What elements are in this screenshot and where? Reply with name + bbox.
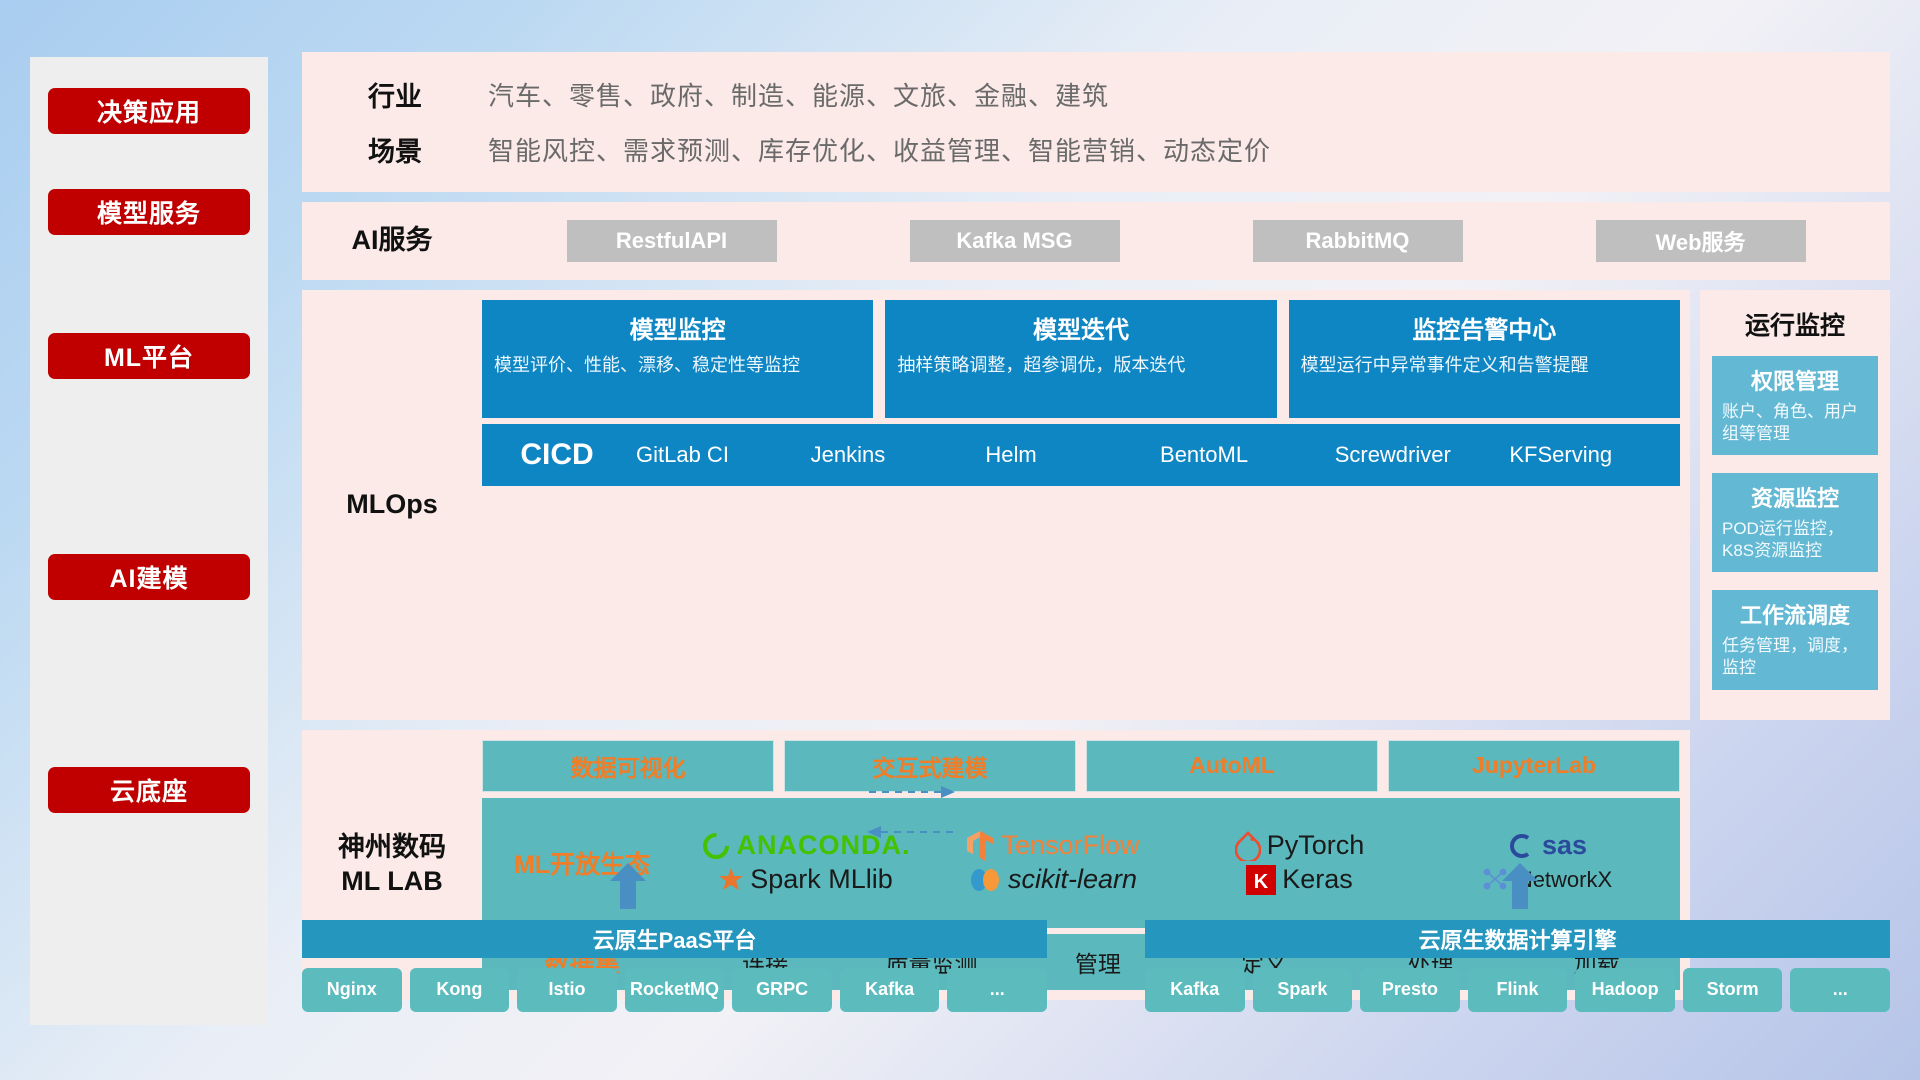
service-chip-kafka-msg[interactable]: Kafka MSG	[910, 220, 1120, 262]
lab-tab-automl[interactable]: AutoML	[1086, 740, 1378, 792]
card-desc: 模型运行中异常事件定义和告警提醒	[1301, 353, 1668, 377]
keras-icon: K	[1246, 865, 1276, 895]
tensorflow-logo: TensorFlow	[965, 829, 1139, 863]
sas-label: sas	[1542, 830, 1587, 861]
main-diagram: 行业 汽车、零售、政府、制造、能源、文旅、金融、建筑 场景 智能风控、需求预测、…	[302, 52, 1890, 1000]
service-chip-rabbitmq[interactable]: RabbitMQ	[1253, 220, 1463, 262]
cicd-item-label: KFServing	[1509, 442, 1612, 467]
cicd-item-kfserving[interactable]: KFServing	[1505, 442, 1680, 467]
engine-chip-flink[interactable]: Flink	[1468, 968, 1568, 1012]
monitor-card-workflow[interactable]: 工作流调度 任务管理，调度，监控	[1712, 590, 1878, 689]
scenario-row: 场景 智能风控、需求预测、库存优化、收益管理、智能营销、动态定价	[302, 130, 1870, 169]
industry-row: 行业 汽车、零售、政府、制造、能源、文旅、金融、建筑	[302, 75, 1870, 114]
sas-logo: sas	[1506, 830, 1587, 861]
mlops-card-model-iteration[interactable]: 模型迭代 抽样策略调整，超参调优，版本迭代	[885, 300, 1276, 418]
card-title: 资源监控	[1722, 481, 1868, 513]
spark-mllib-label: Spark MLlib	[750, 864, 893, 895]
rail-chip-ai-modeling[interactable]: AI建模	[48, 554, 250, 600]
data-engine-title: 云原生数据计算引擎	[1145, 920, 1890, 958]
chip-label: ...	[990, 980, 1005, 1000]
card-title: 权限管理	[1722, 364, 1868, 396]
cicd-item-label: Jenkins	[811, 442, 886, 467]
scikit-learn-logo: scikit-learn	[968, 864, 1137, 895]
cicd-item-screwdriver[interactable]: Screwdriver	[1331, 442, 1506, 467]
lab-tab-data-visualization[interactable]: 数据可视化	[482, 740, 774, 792]
chip-label: Nginx	[327, 980, 377, 1000]
rail-chip-model-service[interactable]: 模型服务	[48, 189, 250, 235]
arrow-up-engine-icon	[1502, 863, 1538, 909]
chip-label: Kafka	[1170, 980, 1219, 1000]
cicd-item-label: GitLab CI	[636, 442, 729, 467]
mlops-row: MLOps 模型监控 模型评价、性能、漂移、稳定性等监控 模型迭代 抽样策略调整…	[302, 290, 1890, 720]
chip-label: Presto	[1382, 980, 1438, 1000]
chip-label: Kafka	[865, 980, 914, 1000]
chip-label: Kong	[436, 980, 482, 1000]
spark-star-icon	[718, 867, 744, 893]
tensorflow-icon	[965, 829, 995, 863]
chip-label: GRPC	[756, 980, 808, 1000]
cicd-item-label: BentoML	[1160, 442, 1248, 467]
lab-tab-label: AutoML	[1189, 752, 1275, 779]
chip-label: Hadoop	[1592, 980, 1659, 1000]
lab-tab-jupyterlab[interactable]: JupyterLab	[1388, 740, 1680, 792]
rail-chip-decision[interactable]: 决策应用	[48, 88, 250, 134]
rail-chip-label: 决策应用	[97, 93, 201, 129]
cicd-item-helm[interactable]: Helm	[981, 442, 1156, 467]
card-title: 模型监控	[494, 310, 861, 345]
scikit-learn-label: scikit-learn	[1008, 864, 1137, 895]
chip-label: Spark	[1277, 980, 1327, 1000]
anaconda-icon	[701, 831, 731, 861]
service-chip-label: Web服务	[1655, 225, 1745, 257]
runtime-monitoring-title: 运行监控	[1712, 306, 1878, 342]
card-desc: 任务管理，调度，监控	[1722, 635, 1868, 679]
service-chip-label: RestfulAPI	[616, 228, 727, 254]
networkx-logo: NetworkX	[1481, 866, 1612, 894]
runtime-monitoring-column: 运行监控 权限管理 账户、角色、用户组等管理 资源监控 POD运行监控，K8S资…	[1700, 290, 1890, 720]
paas-chip-rocketmq[interactable]: RocketMQ	[625, 968, 725, 1012]
rail-chip-label: 模型服务	[97, 194, 201, 230]
card-title: 监控告警中心	[1301, 310, 1668, 345]
rail-chip-label: 云底座	[110, 772, 188, 808]
monitor-card-resource[interactable]: 资源监控 POD运行监控，K8S资源监控	[1712, 473, 1878, 572]
scikit-learn-icon	[968, 866, 1002, 894]
paas-chip-grpc[interactable]: GRPC	[732, 968, 832, 1012]
engine-chip-hadoop[interactable]: Hadoop	[1575, 968, 1675, 1012]
left-rail: 决策应用 模型服务 ML平台 AI建模 云底座	[30, 57, 268, 1025]
decision-apps-band: 行业 汽车、零售、政府、制造、能源、文旅、金融、建筑 场景 智能风控、需求预测、…	[302, 52, 1890, 192]
card-desc: 抽样策略调整，超参调优，版本迭代	[897, 353, 1264, 377]
spark-mllib-logo: Spark MLlib	[718, 864, 893, 895]
monitor-card-permission[interactable]: 权限管理 账户、角色、用户组等管理	[1712, 356, 1878, 455]
ai-service-band: AI服务 RestfulAPI Kafka MSG RabbitMQ Web服务	[302, 202, 1890, 280]
engine-chip-spark[interactable]: Spark	[1253, 968, 1353, 1012]
pytorch-label: PyTorch	[1267, 830, 1365, 861]
ai-service-label: AI服务	[302, 224, 482, 258]
engine-chip-storm[interactable]: Storm	[1683, 968, 1783, 1012]
svg-text:K: K	[1254, 871, 1269, 893]
rail-chip-label: ML平台	[104, 338, 194, 374]
scenario-label: 场景	[302, 130, 488, 169]
service-chip-web-service[interactable]: Web服务	[1596, 220, 1806, 262]
paas-chip-kafka[interactable]: Kafka	[840, 968, 940, 1012]
chip-label: RocketMQ	[630, 980, 719, 1000]
rail-chip-ml-platform[interactable]: ML平台	[48, 333, 250, 379]
mlops-card-alert-center[interactable]: 监控告警中心 模型运行中异常事件定义和告警提醒	[1289, 300, 1680, 418]
lab-tab-label: JupyterLab	[1472, 752, 1596, 779]
rail-chip-cloud-base[interactable]: 云底座	[48, 767, 250, 813]
keras-logo: K Keras	[1246, 864, 1353, 895]
paas-chip-istio[interactable]: Istio	[517, 968, 617, 1012]
cicd-title: CICD	[482, 438, 632, 472]
ml-lab-label-line1: 神州数码	[338, 831, 446, 865]
card-title: 模型迭代	[897, 310, 1264, 345]
keras-label: Keras	[1282, 864, 1353, 895]
service-chip-label: RabbitMQ	[1306, 228, 1410, 254]
engine-chip-presto[interactable]: Presto	[1360, 968, 1460, 1012]
lab-tab-label: 数据可视化	[571, 749, 686, 783]
arrow-up-paas-icon	[610, 863, 646, 909]
rail-chip-label: AI建模	[109, 559, 188, 595]
paas-chip-nginx[interactable]: Nginx	[302, 968, 402, 1012]
ml-ecosystem-label: ML开放生态	[482, 845, 682, 881]
pytorch-icon	[1235, 831, 1261, 861]
cicd-item-label: Screwdriver	[1335, 442, 1451, 467]
cloud-base-zone: 云原生PaaS平台 Nginx Kong Istio RocketMQ GRPC…	[302, 895, 1890, 1045]
paas-platform-group: 云原生PaaS平台 Nginx Kong Istio RocketMQ GRPC…	[302, 920, 1047, 1012]
card-desc: 模型评价、性能、漂移、稳定性等监控	[494, 353, 861, 377]
paas-chip-kong[interactable]: Kong	[410, 968, 510, 1012]
mlops-card-model-monitoring[interactable]: 模型监控 模型评价、性能、漂移、稳定性等监控	[482, 300, 873, 418]
ml-lab-tabs: 数据可视化 交互式建模 AutoML JupyterLab	[482, 740, 1680, 792]
mlops-band: MLOps 模型监控 模型评价、性能、漂移、稳定性等监控 模型迭代 抽样策略调整…	[302, 290, 1690, 720]
industry-values: 汽车、零售、政府、制造、能源、文旅、金融、建筑	[488, 76, 1109, 113]
service-chip-label: Kafka MSG	[956, 228, 1072, 254]
chip-label: Storm	[1707, 980, 1759, 1000]
pytorch-logo: PyTorch	[1235, 830, 1365, 861]
chip-label: Istio	[548, 980, 585, 1000]
card-desc: POD运行监控，K8S资源监控	[1722, 518, 1868, 562]
data-engine-group: 云原生数据计算引擎 Kafka Spark Presto Flink Hadoo…	[1145, 920, 1890, 1012]
cicd-item-bentoml[interactable]: BentoML	[1156, 442, 1331, 467]
cicd-item-label: Helm	[985, 442, 1036, 467]
paas-chip-more[interactable]: ...	[947, 968, 1047, 1012]
industry-label: 行业	[302, 75, 488, 114]
cicd-item-jenkins[interactable]: Jenkins	[807, 442, 982, 467]
cicd-bar: CICD GitLab CI Jenkins Helm BentoML Scre…	[482, 424, 1680, 486]
ml-lab-label-line2: ML LAB	[338, 865, 446, 899]
chip-label: Flink	[1497, 980, 1539, 1000]
engine-chip-more[interactable]: ...	[1790, 968, 1890, 1012]
mlops-label: MLOps	[302, 300, 482, 710]
cicd-item-gitlab-ci[interactable]: GitLab CI	[632, 442, 807, 467]
service-chip-restfulapi[interactable]: RestfulAPI	[567, 220, 777, 262]
engine-chip-kafka[interactable]: Kafka	[1145, 968, 1245, 1012]
card-desc: 账户、角色、用户组等管理	[1722, 401, 1868, 445]
tensorflow-label: TensorFlow	[1001, 830, 1139, 861]
sas-icon	[1506, 832, 1536, 860]
chip-label: ...	[1833, 980, 1848, 1000]
card-title: 工作流调度	[1722, 598, 1868, 630]
cloud-link-arrows	[865, 778, 957, 848]
scenario-values: 智能风控、需求预测、库存优化、收益管理、智能营销、动态定价	[488, 131, 1271, 168]
paas-platform-title: 云原生PaaS平台	[302, 920, 1047, 958]
